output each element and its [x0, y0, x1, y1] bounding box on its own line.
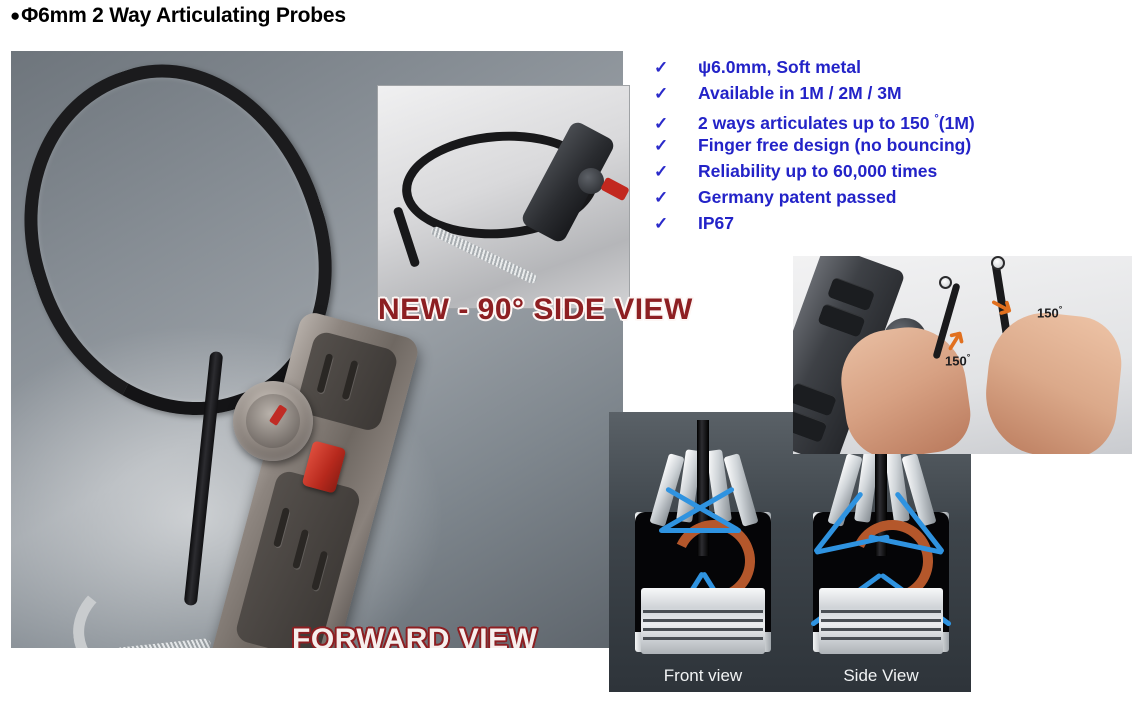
cylinder-side-view	[797, 420, 965, 652]
feature-item: ✓ ψ6.0mm, Soft metal	[648, 54, 1118, 80]
inset-red-button	[600, 177, 630, 202]
piston-ring	[643, 628, 763, 631]
angle-label-left: 150°	[945, 352, 970, 368]
check-icon: ✓	[648, 55, 698, 81]
front-view-label: Front view	[619, 666, 787, 686]
handle-slit	[292, 529, 309, 569]
caption-side-view: NEW - 90° SIDE VIEW	[378, 293, 693, 327]
feature-list: ✓ ψ6.0mm, Soft metal ✓ Available in 1M /…	[648, 54, 1118, 236]
feature-item: ✓ Reliability up to 60,000 times	[648, 158, 1118, 184]
side-view-label: Side View	[797, 666, 965, 686]
page-title: ●Φ6mm 2 Way Articulating Probes	[10, 4, 346, 28]
feature-label: Available in 1M / 2M / 3M	[698, 80, 902, 106]
articulation-knob-face	[240, 388, 306, 454]
rotation-arrow-right-icon: ➜	[983, 288, 1019, 326]
probe-tip-left	[939, 276, 952, 289]
device-grip-slit	[793, 382, 837, 417]
angle-value-left: 150	[945, 353, 967, 368]
piston	[641, 588, 765, 654]
feature-item: ✓ Available in 1M / 2M / 3M	[648, 80, 1118, 106]
check-icon: ✓	[648, 211, 698, 237]
check-icon: ✓	[648, 133, 698, 159]
feature-label: IP67	[698, 210, 734, 236]
handle-slit	[316, 353, 333, 393]
piston-ring	[821, 610, 941, 613]
feature-label: Reliability up to 60,000 times	[698, 158, 937, 184]
piston-ring	[643, 619, 763, 622]
engine-cylinder-diagram: Front view Side View	[609, 412, 971, 692]
feature-item: ✓ IP67	[648, 210, 1118, 236]
hand-demonstration-photo: ➜ ➜ 150° 150°	[793, 256, 1132, 454]
piston-ring	[821, 619, 941, 622]
piston-ring	[643, 637, 763, 640]
probe-tip-right	[991, 256, 1005, 270]
caption-forward-view: FORWARD VIEW	[292, 623, 537, 648]
feature-label: Finger free design (no bouncing)	[698, 132, 971, 158]
handle-grip-pad-bottom	[234, 469, 363, 648]
feature-label-main: 2 ways articulates up to 150	[698, 113, 934, 133]
piston-ring	[643, 610, 763, 613]
piston	[819, 588, 943, 654]
feature-item: ✓ Germany patent passed	[648, 184, 1118, 210]
feature-item: ✓ 2 ways articulates up to 150 °(1M)	[648, 106, 1118, 132]
piston-ring	[821, 628, 941, 631]
feature-label: Germany patent passed	[698, 184, 896, 210]
view-ray	[659, 528, 739, 533]
handle-slit	[273, 507, 290, 547]
feature-label: ψ6.0mm, Soft metal	[698, 54, 861, 80]
check-icon: ✓	[648, 159, 698, 185]
cylinder-front-view	[619, 420, 787, 652]
inset-knob	[578, 168, 604, 194]
handle-slit	[311, 550, 328, 590]
feature-item: ✓ Finger free design (no bouncing)	[648, 132, 1118, 158]
check-icon: ✓	[648, 81, 698, 107]
angle-label-right: 150°	[1037, 304, 1062, 320]
check-icon: ✓	[648, 185, 698, 211]
knob-red-marker	[269, 404, 287, 426]
degree-symbol: °	[1059, 304, 1063, 314]
handle-slit	[342, 360, 359, 400]
title-bullet-icon: ●	[10, 6, 20, 25]
feature-label-suffix: (1M)	[939, 113, 975, 133]
degree-symbol: °	[967, 352, 971, 362]
angle-value-right: 150	[1037, 305, 1059, 320]
title-text: Φ6mm 2 Way Articulating Probes	[21, 4, 346, 27]
piston-ring	[821, 637, 941, 640]
side-view-inset-photo	[377, 85, 630, 309]
